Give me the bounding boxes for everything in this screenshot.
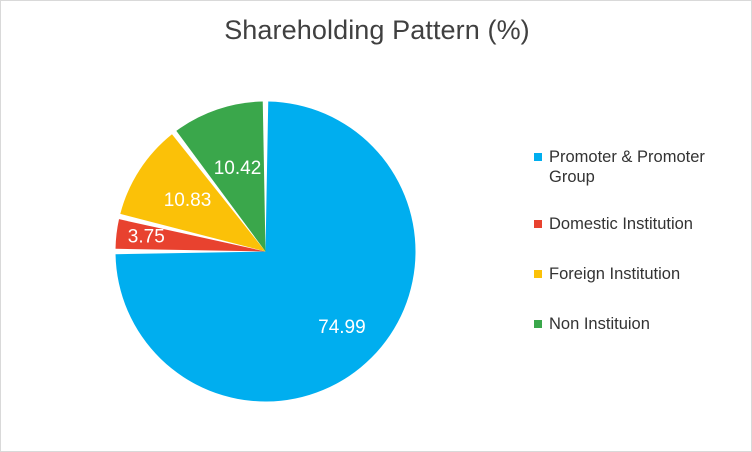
pie-slice-group bbox=[116, 102, 416, 402]
legend-item-label: Foreign Institution bbox=[549, 264, 680, 284]
legend-color-swatch-icon bbox=[534, 153, 542, 161]
pie-data-label: 74.99 bbox=[318, 317, 366, 338]
pie-data-label: 3.75 bbox=[128, 226, 165, 247]
pie-data-label: 10.83 bbox=[164, 190, 212, 211]
legend-color-swatch-icon bbox=[534, 270, 542, 278]
legend-item[interactable]: Promoter & Promoter Group bbox=[534, 147, 746, 187]
pie-data-label: 10.42 bbox=[214, 158, 262, 179]
legend-item-label: Promoter & Promoter Group bbox=[549, 147, 746, 187]
legend-item-label: Domestic Institution bbox=[549, 214, 693, 234]
legend-color-swatch-icon bbox=[534, 220, 542, 228]
legend-item[interactable]: Non Instituion bbox=[534, 314, 746, 334]
pie-chart-figure: Shareholding Pattern (%) 74.993.7510.831… bbox=[0, 0, 752, 452]
legend-color-swatch-icon bbox=[534, 320, 542, 328]
legend: Promoter & Promoter GroupDomestic Instit… bbox=[534, 147, 746, 334]
legend-item-label: Non Instituion bbox=[549, 314, 650, 334]
legend-item[interactable]: Foreign Institution bbox=[534, 264, 746, 284]
legend-item[interactable]: Domestic Institution bbox=[534, 214, 746, 234]
